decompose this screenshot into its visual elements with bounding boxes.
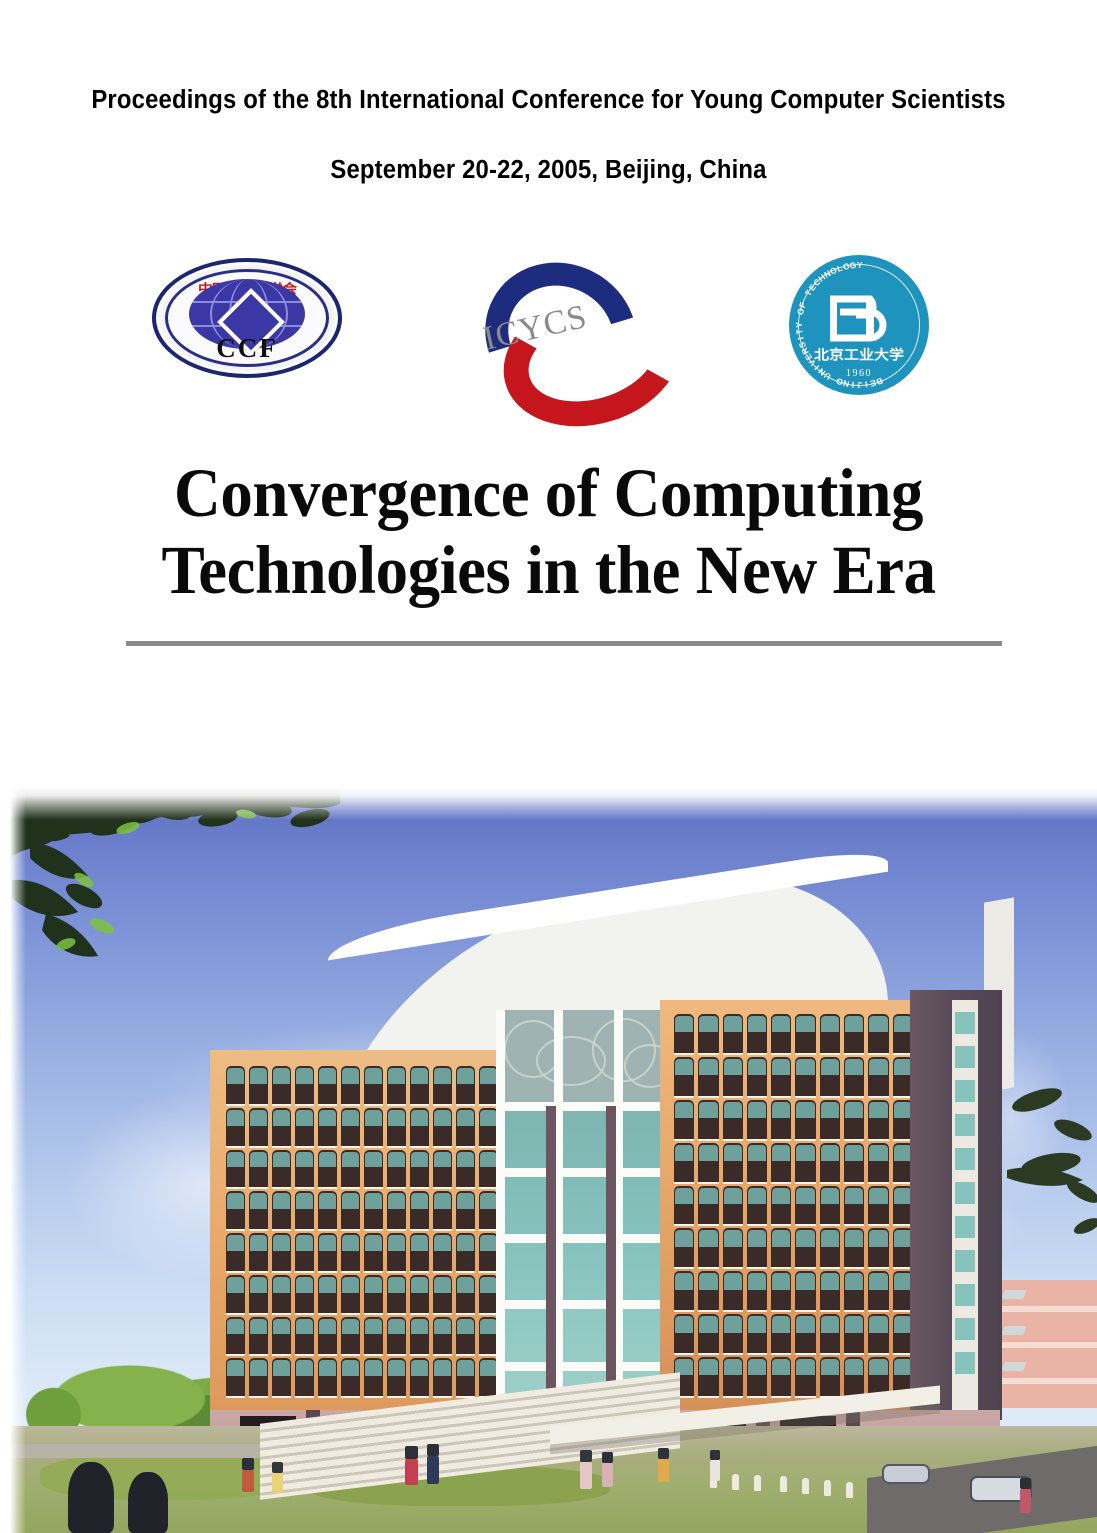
facade-window bbox=[295, 1317, 314, 1355]
facade-window bbox=[844, 1143, 864, 1182]
facade-window bbox=[456, 1108, 475, 1146]
facade-window bbox=[272, 1317, 291, 1355]
facade-window bbox=[747, 1271, 767, 1310]
facade-window bbox=[747, 1057, 767, 1096]
facade-window bbox=[723, 1057, 743, 1096]
facade-window bbox=[868, 1057, 888, 1096]
facade-window bbox=[318, 1191, 337, 1229]
facade-window bbox=[295, 1191, 314, 1229]
ccf-acronym: CCF bbox=[168, 335, 326, 362]
person-figure bbox=[658, 1448, 669, 1482]
facade-window bbox=[410, 1108, 429, 1146]
cover-photograph: Edited by He, Jingsha Gao, Jerry Zeyu Xi… bbox=[10, 786, 1097, 1533]
facade-window bbox=[868, 1228, 888, 1267]
left-brick-facade bbox=[210, 1050, 510, 1410]
facade-window bbox=[723, 1357, 743, 1396]
facade-window bbox=[387, 1233, 406, 1271]
facade-window bbox=[674, 1143, 694, 1182]
right-brick-facade bbox=[660, 1000, 925, 1410]
facade-window bbox=[226, 1275, 245, 1313]
facade-window bbox=[364, 1066, 383, 1104]
facade-window bbox=[226, 1191, 245, 1229]
facade-window bbox=[795, 1314, 815, 1353]
facade-window bbox=[456, 1233, 475, 1271]
facade-window bbox=[341, 1317, 360, 1355]
facade-window bbox=[272, 1358, 291, 1396]
facade-window bbox=[364, 1275, 383, 1313]
facade-window bbox=[868, 1143, 888, 1182]
right-window-grid bbox=[674, 1014, 913, 1396]
facade-window bbox=[674, 1271, 694, 1310]
bjut-logo: BEIJINGUNIVERSITYOFTECHNOLOGY 北京工业大学 196… bbox=[784, 250, 934, 400]
facade-window bbox=[226, 1317, 245, 1355]
bjut-founding-year: 1960 bbox=[789, 368, 929, 379]
facade-window bbox=[868, 1314, 888, 1353]
facade-window bbox=[795, 1228, 815, 1267]
facade-window bbox=[226, 1066, 245, 1104]
facade-window bbox=[318, 1066, 337, 1104]
facade-window bbox=[387, 1275, 406, 1313]
facade-window bbox=[723, 1014, 743, 1053]
facade-window bbox=[723, 1228, 743, 1267]
facade-window bbox=[820, 1186, 840, 1225]
facade-window bbox=[433, 1358, 452, 1396]
facade-window bbox=[674, 1228, 694, 1267]
facade-window bbox=[226, 1233, 245, 1271]
logo-row: 中国计算机学会 CCF ICYCS BEIJINGUNIVERSITYOFTE bbox=[0, 250, 1097, 395]
facade-window bbox=[318, 1275, 337, 1313]
ccf-inner-ring: 中国计算机学会 CCF bbox=[165, 269, 329, 367]
bjut-seal: BEIJINGUNIVERSITYOFTECHNOLOGY 北京工业大学 196… bbox=[789, 255, 929, 395]
facade-window bbox=[295, 1150, 314, 1188]
title-divider-rule bbox=[126, 641, 1002, 646]
facade-window bbox=[747, 1186, 767, 1225]
facade-window bbox=[820, 1100, 840, 1139]
facade-window bbox=[795, 1186, 815, 1225]
facade-window bbox=[364, 1358, 383, 1396]
person-figure bbox=[272, 1462, 283, 1493]
conference-date-location-line: September 20-22, 2005, Beijing, China bbox=[36, 156, 1062, 185]
facade-window bbox=[456, 1066, 475, 1104]
facade-window bbox=[747, 1357, 767, 1396]
facade-window bbox=[844, 1186, 864, 1225]
facade-window bbox=[364, 1317, 383, 1355]
facade-window bbox=[249, 1191, 268, 1229]
facade-window bbox=[771, 1186, 791, 1225]
facade-window bbox=[674, 1186, 694, 1225]
bjut-b-monogram-icon bbox=[826, 295, 892, 343]
facade-window bbox=[868, 1014, 888, 1053]
facade-window bbox=[698, 1357, 718, 1396]
facade-window bbox=[295, 1066, 314, 1104]
facade-window bbox=[249, 1150, 268, 1188]
facade-window bbox=[747, 1228, 767, 1267]
facade-window bbox=[723, 1143, 743, 1182]
facade-window bbox=[387, 1108, 406, 1146]
facade-window bbox=[249, 1066, 268, 1104]
facade-window bbox=[249, 1317, 268, 1355]
facade-window bbox=[341, 1191, 360, 1229]
facade-window bbox=[364, 1108, 383, 1146]
facade-window bbox=[868, 1186, 888, 1225]
facade-window bbox=[698, 1014, 718, 1053]
facade-window bbox=[771, 1014, 791, 1053]
facade-window bbox=[723, 1100, 743, 1139]
facade-window bbox=[249, 1108, 268, 1146]
person-figure bbox=[602, 1452, 613, 1487]
facade-window bbox=[295, 1233, 314, 1271]
facade-window bbox=[226, 1150, 245, 1188]
facade-window bbox=[698, 1057, 718, 1096]
facade-window bbox=[318, 1150, 337, 1188]
person-figure bbox=[710, 1450, 720, 1481]
facade-window bbox=[364, 1150, 383, 1188]
facade-window bbox=[698, 1228, 718, 1267]
stair-tower-glazing bbox=[952, 1000, 978, 1415]
glass-atrium bbox=[496, 1010, 678, 1410]
facade-window bbox=[410, 1275, 429, 1313]
facade-window bbox=[795, 1100, 815, 1139]
facade-window bbox=[844, 1357, 864, 1396]
facade-window bbox=[795, 1357, 815, 1396]
ccf-logo: 中国计算机学会 CCF bbox=[152, 258, 342, 378]
facade-window bbox=[844, 1014, 864, 1053]
person-figure bbox=[427, 1444, 439, 1484]
facade-window bbox=[341, 1066, 360, 1104]
ccf-outer-ring: 中国计算机学会 CCF bbox=[152, 258, 342, 378]
title-line-1: Convergence of Computing bbox=[33, 455, 1064, 532]
facade-window bbox=[387, 1150, 406, 1188]
facade-window bbox=[456, 1275, 475, 1313]
left-window-grid bbox=[226, 1066, 498, 1396]
facade-window bbox=[747, 1014, 767, 1053]
facade-window bbox=[341, 1275, 360, 1313]
facade-window bbox=[771, 1228, 791, 1267]
facade-window bbox=[272, 1275, 291, 1313]
facade-window bbox=[341, 1108, 360, 1146]
facade-window bbox=[868, 1100, 888, 1139]
facade-window bbox=[410, 1317, 429, 1355]
facade-window bbox=[226, 1108, 245, 1146]
book-title: Convergence of Computing Technologies in… bbox=[0, 455, 1097, 610]
facade-window bbox=[698, 1186, 718, 1225]
facade-window bbox=[433, 1275, 452, 1313]
facade-window bbox=[723, 1271, 743, 1310]
facade-window bbox=[410, 1358, 429, 1396]
facade-window bbox=[387, 1191, 406, 1229]
facade-window bbox=[433, 1066, 452, 1104]
facade-window bbox=[272, 1066, 291, 1104]
facade-window bbox=[674, 1100, 694, 1139]
facade-window bbox=[249, 1275, 268, 1313]
facade-window bbox=[341, 1150, 360, 1188]
facade-window bbox=[795, 1271, 815, 1310]
facade-window bbox=[364, 1191, 383, 1229]
main-campus-building bbox=[210, 850, 1000, 1470]
facade-window bbox=[698, 1271, 718, 1310]
conference-proceedings-line: Proceedings of the 8th International Con… bbox=[36, 86, 1062, 115]
facade-window bbox=[272, 1108, 291, 1146]
facade-window bbox=[410, 1066, 429, 1104]
facade-window bbox=[771, 1314, 791, 1353]
facade-window bbox=[674, 1314, 694, 1353]
facade-window bbox=[771, 1357, 791, 1396]
facade-window bbox=[747, 1143, 767, 1182]
facade-window bbox=[820, 1014, 840, 1053]
facade-window bbox=[249, 1358, 268, 1396]
facade-window bbox=[433, 1233, 452, 1271]
facade-window bbox=[456, 1191, 475, 1229]
facade-window bbox=[844, 1271, 864, 1310]
facade-window bbox=[318, 1317, 337, 1355]
facade-window bbox=[433, 1317, 452, 1355]
facade-window bbox=[433, 1108, 452, 1146]
facade-window bbox=[747, 1314, 767, 1353]
facade-window bbox=[433, 1150, 452, 1188]
title-line-2: Technologies in the New Era bbox=[33, 532, 1064, 609]
facade-window bbox=[226, 1358, 245, 1396]
facade-window bbox=[844, 1314, 864, 1353]
book-cover: Proceedings of the 8th International Con… bbox=[0, 0, 1097, 1533]
person-figure bbox=[405, 1446, 418, 1485]
facade-window bbox=[272, 1191, 291, 1229]
facade-window bbox=[698, 1100, 718, 1139]
facade-window bbox=[387, 1358, 406, 1396]
facade-window bbox=[723, 1186, 743, 1225]
facade-window bbox=[295, 1275, 314, 1313]
facade-window bbox=[456, 1358, 475, 1396]
facade-window bbox=[295, 1358, 314, 1396]
facade-window bbox=[272, 1233, 291, 1271]
facade-window bbox=[433, 1191, 452, 1229]
facade-window bbox=[868, 1271, 888, 1310]
facade-window bbox=[318, 1233, 337, 1271]
icycs-logo: ICYCS bbox=[476, 258, 656, 376]
foreground-silhouette bbox=[128, 1472, 168, 1533]
facade-window bbox=[820, 1314, 840, 1353]
facade-window bbox=[410, 1150, 429, 1188]
facade-window bbox=[844, 1228, 864, 1267]
facade-window bbox=[795, 1057, 815, 1096]
facade-window bbox=[771, 1271, 791, 1310]
facade-window bbox=[318, 1358, 337, 1396]
facade-window bbox=[844, 1057, 864, 1096]
foreground-silhouette bbox=[68, 1462, 114, 1533]
lattice-tracery-panel bbox=[496, 1010, 678, 1102]
facade-window bbox=[387, 1317, 406, 1355]
facade-window bbox=[771, 1057, 791, 1096]
facade-window bbox=[387, 1066, 406, 1104]
parked-car bbox=[882, 1464, 930, 1484]
facade-window bbox=[364, 1233, 383, 1271]
facade-window bbox=[341, 1358, 360, 1396]
person-figure bbox=[580, 1450, 592, 1489]
person-figure bbox=[1020, 1478, 1031, 1513]
facade-window bbox=[771, 1143, 791, 1182]
facade-window bbox=[795, 1143, 815, 1182]
facade-window bbox=[844, 1100, 864, 1139]
facade-window bbox=[410, 1233, 429, 1271]
facade-window bbox=[341, 1233, 360, 1271]
facade-window bbox=[820, 1228, 840, 1267]
facade-window bbox=[272, 1150, 291, 1188]
facade-window bbox=[456, 1317, 475, 1355]
facade-window bbox=[747, 1100, 767, 1139]
facade-window bbox=[771, 1100, 791, 1139]
facade-window bbox=[410, 1191, 429, 1229]
facade-window bbox=[674, 1014, 694, 1053]
facade-window bbox=[820, 1057, 840, 1096]
facade-window bbox=[723, 1314, 743, 1353]
facade-window bbox=[698, 1143, 718, 1182]
facade-window bbox=[820, 1357, 840, 1396]
facade-window bbox=[795, 1014, 815, 1053]
facade-window bbox=[698, 1314, 718, 1353]
bjut-chinese-text: 北京工业大学 bbox=[789, 345, 929, 364]
facade-window bbox=[295, 1108, 314, 1146]
facade-window bbox=[820, 1271, 840, 1310]
person-figure bbox=[242, 1458, 254, 1492]
facade-window bbox=[674, 1057, 694, 1096]
facade-window bbox=[820, 1143, 840, 1182]
facade-window bbox=[456, 1150, 475, 1188]
facade-window bbox=[318, 1108, 337, 1146]
facade-window bbox=[249, 1233, 268, 1271]
